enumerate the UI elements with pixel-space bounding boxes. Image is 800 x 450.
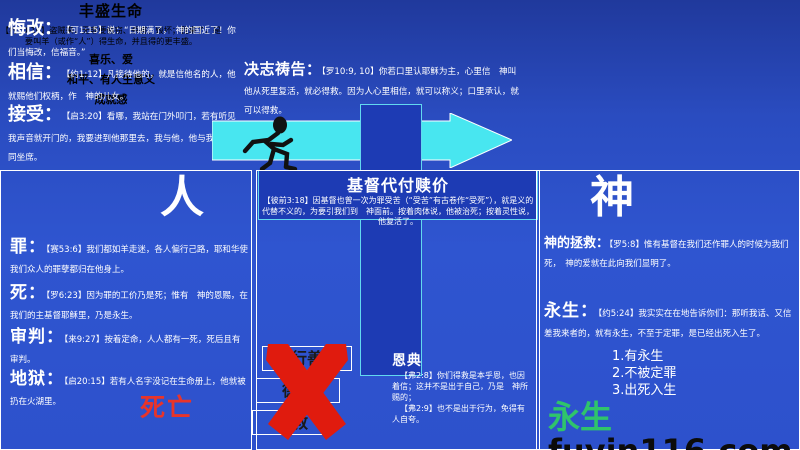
man-item-hell-key: 地狱： bbox=[10, 369, 64, 389]
god-eternal-life-key: 永生： bbox=[544, 301, 598, 321]
receive-heading: 接受： bbox=[8, 104, 62, 125]
running-man-icon bbox=[238, 113, 316, 171]
believe-block: 相信：【约1:12】凡接待他的，就是信他名的人，他就赐他们权柄，作 神的儿女。 bbox=[8, 58, 238, 103]
panel-god-title: 神 bbox=[590, 176, 634, 220]
panel-christ-title: 基督代付赎价 bbox=[256, 172, 540, 196]
god-eternal-life-block: 永生：【约5:24】我实实在在地告诉你们：那听我话、又信差我来者的，就有永生，不… bbox=[544, 296, 796, 340]
grace-verse-1: 【弗2:8】你们得救是本乎恩，也因着信；这并不是出于自己，乃是 神所赐的； bbox=[392, 370, 532, 403]
grace-verse-2: 【弗2:9】也不是出于行为，免得有人自夸。 bbox=[392, 403, 532, 425]
grace-block: 恩典 【弗2:8】你们得救是本乎恩，也因着信；这并不是出于自己，乃是 神所赐的；… bbox=[392, 350, 532, 425]
repent-block: 悔改：【可1:15】说：“日期满了， 神的国近了！你们当悔改，信福音。” bbox=[8, 14, 238, 59]
grace-title: 恩典 bbox=[392, 350, 532, 370]
decision-prayer-heading: 决志祷告： bbox=[244, 60, 322, 78]
man-item-death: 死：【罗6:23】因为罪的工价乃是死；惟有 神的恩赐，在我们的主基督耶稣里，乃是… bbox=[10, 278, 248, 322]
man-item-sin-text: 【赛53:6】我们都如羊走迷，各人偏行己路，耶和华使我们众人的罪孽都归在他身上。 bbox=[10, 245, 248, 275]
god-benefits-list: 1.有永生 2.不被定罪 3.出死入生 bbox=[612, 348, 676, 399]
god-benefit-2: 2.不被定罪 bbox=[612, 365, 676, 382]
man-item-sin: 罪：【赛53:6】我们都如羊走迷，各人偏行己路，耶和华使我们众人的罪孽都归在他身… bbox=[10, 232, 248, 276]
man-item-death-key: 死： bbox=[10, 283, 46, 303]
repent-heading: 悔改： bbox=[8, 18, 62, 39]
man-item-judgment-key: 审判： bbox=[10, 327, 64, 347]
man-item-hell: 地狱：【启20:15】若有人名字没记在生命册上，他就被扔在火湖里。 bbox=[10, 364, 248, 408]
gospel-slide: 悔改：【可1:15】说：“日期满了， 神的国近了！你们当悔改，信福音。” 相信：… bbox=[0, 0, 800, 450]
man-item-death-text: 【罗6:23】因为罪的工价乃是死；惟有 神的恩赐，在我们的主基督耶稣里，乃是永生… bbox=[10, 291, 248, 321]
watermark-en: fuyin116.com bbox=[548, 432, 793, 450]
man-item-judgment: 审判：【来9:27】按着定命，人人都有一死，死后且有审判。 bbox=[10, 322, 248, 366]
man-item-sin-key: 罪： bbox=[10, 237, 46, 257]
god-salvation-block: 神的拯救：【罗5:8】惟有基督在我们还作罪人的时候为我们死， 神的爱就在此向我们… bbox=[544, 232, 796, 270]
watermark-cn: 永生 bbox=[548, 398, 612, 436]
god-salvation-key: 神的拯救： bbox=[544, 236, 609, 251]
receive-block: 接受：【启3:20】看哪，我站在门外叩门，若有听见我声音就开门的，我要进到他那里… bbox=[8, 100, 238, 164]
panel-christ-verse: 【彼前3:18】因基督也曾一次为罪受苦（“受苦”有古卷作“受死”），就是义的代替… bbox=[262, 196, 534, 228]
panel-man-title: 人 bbox=[160, 176, 204, 220]
god-benefit-3: 3.出死入生 bbox=[612, 382, 676, 399]
god-benefit-1: 1.有永生 bbox=[612, 348, 676, 365]
believe-heading: 相信： bbox=[8, 62, 62, 83]
death-label: 死亡 bbox=[140, 388, 194, 424]
red-x-icon bbox=[262, 344, 352, 440]
watermark: 永生fuyin116.com bbox=[548, 400, 800, 450]
